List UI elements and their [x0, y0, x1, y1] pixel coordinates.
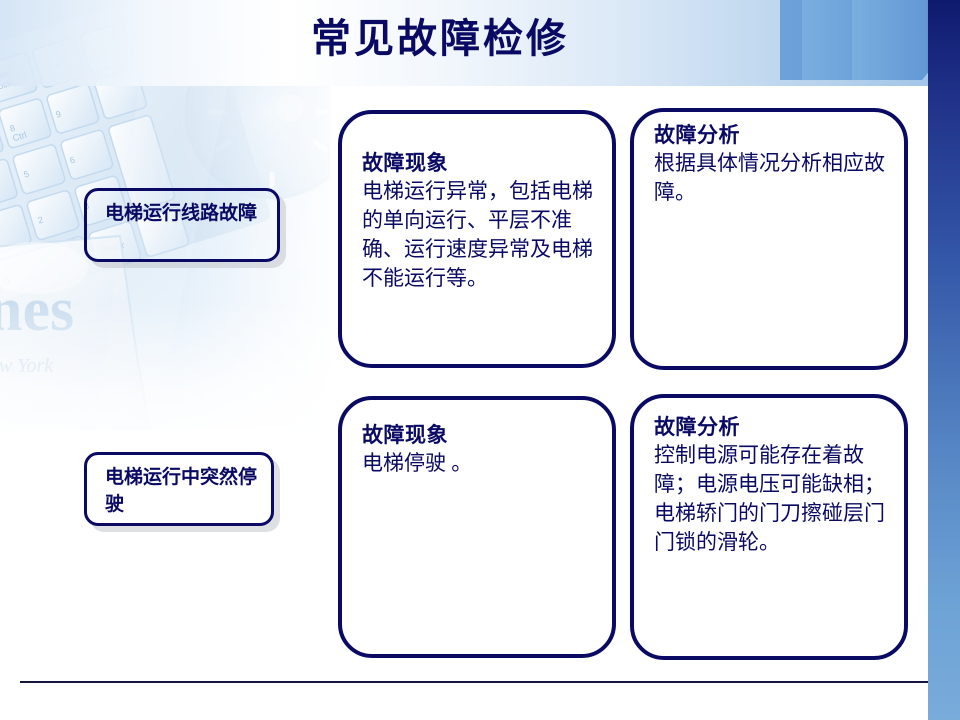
panel-analysis-route-body: 根据具体情况分析相应故障。 — [654, 149, 888, 207]
panel-analysis-stop-content: 故障分析 控制电源可能存在着故障；电源电压可能缺相；电梯轿门的门刀擦碰层门门锁的… — [654, 414, 888, 557]
panel-analysis-stop-heading: 故障分析 — [654, 414, 888, 440]
svg-text:ew York: ew York — [0, 355, 54, 377]
horizontal-divider — [20, 681, 928, 683]
category-chip-route[interactable]: 电梯运行线路故障 — [84, 188, 280, 262]
panel-analysis-route-content: 故障分析 根据具体情况分析相应故障。 — [654, 122, 888, 207]
panel-symptom-stop-heading: 故障现象 — [362, 422, 596, 448]
slide: 10 9 — [0, 0, 960, 720]
panel-symptom-route-body: 电梯运行异常，包括电梯的单向运行、平层不准确、运行速度异常及电梯不能运行等。 — [362, 177, 596, 293]
panel-analysis-route[interactable]: 故障分析 根据具体情况分析相应故障。 — [630, 108, 908, 370]
panel-symptom-route-heading: 故障现象 — [362, 150, 596, 176]
vertical-gradient-bar — [928, 0, 960, 720]
panel-symptom-stop[interactable]: 故障现象 电梯停驶 。 — [338, 396, 616, 658]
panel-symptom-route-content: 故障现象 电梯运行异常，包括电梯的单向运行、平层不准确、运行速度异常及电梯不能运… — [362, 150, 596, 293]
panel-symptom-route[interactable]: 故障现象 电梯运行异常，包括电梯的单向运行、平层不准确、运行速度异常及电梯不能运… — [338, 110, 616, 368]
panel-analysis-stop[interactable]: 故障分析 控制电源可能存在着故障；电源电压可能缺相；电梯轿门的门刀擦碰层门门锁的… — [630, 394, 908, 660]
category-chip-stop-label: 电梯运行中突然停驶 — [105, 467, 257, 515]
panel-analysis-route-heading: 故障分析 — [654, 122, 888, 148]
panel-symptom-stop-body: 电梯停驶 。 — [362, 449, 596, 478]
page-title: 常见故障检修 — [0, 16, 880, 62]
panel-symptom-stop-content: 故障现象 电梯停驶 。 — [362, 422, 596, 478]
panel-analysis-stop-body: 控制电源可能存在着故障；电源电压可能缺相；电梯轿门的门刀擦碰层门门锁的滑轮。 — [654, 441, 888, 557]
category-chip-stop[interactable]: 电梯运行中突然停驶 — [84, 452, 274, 526]
category-chip-route-label: 电梯运行线路故障 — [105, 203, 257, 224]
